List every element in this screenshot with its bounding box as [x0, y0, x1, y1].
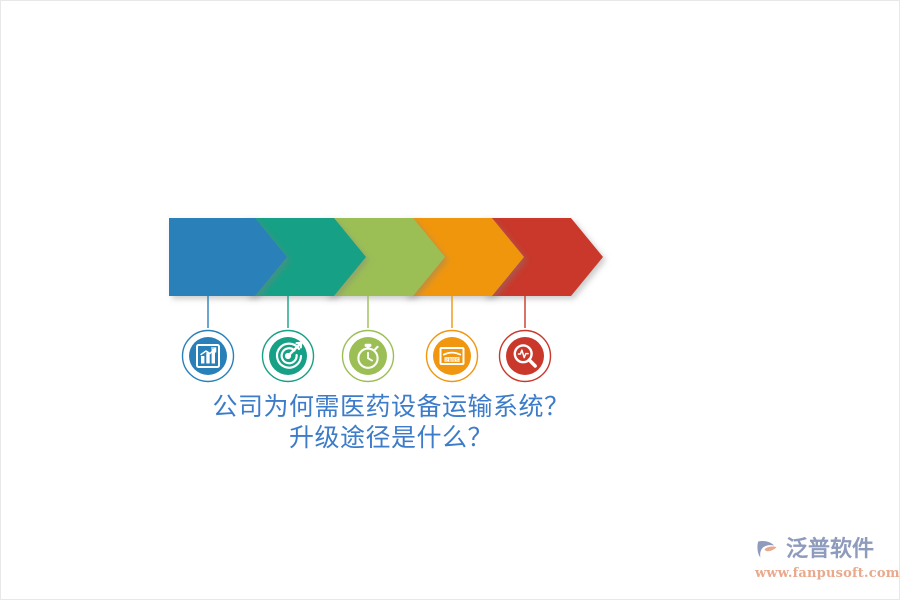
- fanpu-logo-icon: [755, 536, 782, 563]
- step-badge-3[interactable]: [341, 329, 395, 383]
- step-badge-5[interactable]: [498, 329, 552, 383]
- software-card-label: 泛普软件: [445, 357, 460, 362]
- headline-line-2: 升级途径是什么？: [101, 422, 681, 453]
- watermark-url: www.fanpusoft.com: [755, 566, 885, 581]
- step-badge-1[interactable]: [181, 329, 235, 383]
- step-badge-2[interactable]: [261, 329, 315, 383]
- slide-canvas: 泛普软件 公司为何需医药设备运输系统？: [0, 0, 900, 600]
- headline-line-1: 公司为何需医药设备运输系统？: [101, 391, 681, 422]
- step-badge-4[interactable]: 泛普软件: [425, 329, 479, 383]
- watermark-brand: 泛普软件: [786, 536, 874, 563]
- watermark-logo: 泛普软件 www.fanpusoft.com: [755, 533, 885, 585]
- headline: 公司为何需医药设备运输系统？ 升级途径是什么？: [101, 391, 681, 453]
- watermark-logo-row: 泛普软件: [755, 533, 885, 565]
- infographic-container: 泛普软件: [151, 206, 621, 406]
- icon-badge-row: 泛普软件: [151, 321, 621, 391]
